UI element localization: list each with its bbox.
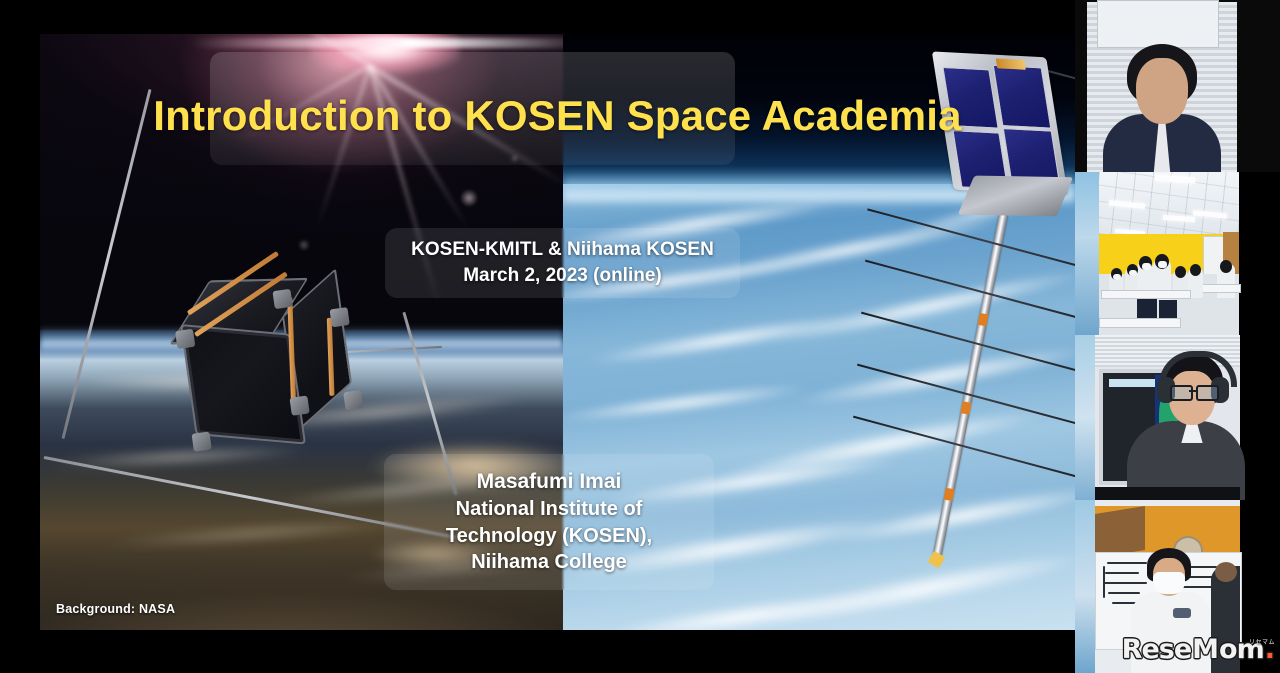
shirt-logo <box>1173 608 1191 618</box>
glasses-bridge <box>1189 390 1196 392</box>
face-mask <box>1142 263 1151 270</box>
whiteboard <box>1097 0 1219 48</box>
person-torso <box>1131 592 1211 673</box>
lens-left <box>1170 385 1193 401</box>
slide-title: Introduction to KOSEN Space Academia <box>95 94 1020 138</box>
whiteboard-writing <box>1108 592 1140 594</box>
slide-subtitle-block: KOSEN-KMITL & Niihama KOSEN March 2, 202… <box>385 228 740 298</box>
cubesat-corner <box>343 390 363 410</box>
face-mask <box>1113 274 1121 280</box>
cubesat-bottom-face <box>958 176 1073 217</box>
boom-band <box>978 313 989 326</box>
cubesat-left-graphic <box>150 234 420 474</box>
cloud-band <box>100 516 400 553</box>
cubesat-corner <box>192 431 212 451</box>
watermark-subtext: リセマム <box>1249 637 1275 646</box>
participant-video-1 <box>1075 0 1280 172</box>
cubesat-body <box>168 276 347 447</box>
eyeglasses-icon <box>1170 385 1216 397</box>
participant-tile-3[interactable] <box>1075 335 1280 500</box>
participant-filmstrip[interactable]: Rese M om . リセマム <box>1075 0 1280 673</box>
cubesat-corner <box>289 395 309 415</box>
author-affiliation-line-3: Niihama College <box>471 549 627 576</box>
shared-screen-stage[interactable]: Background: NASA <box>0 0 1075 673</box>
student-head <box>1175 266 1186 278</box>
lens-ghost-dot <box>460 189 478 207</box>
cubesat-corner <box>330 307 350 327</box>
lens-flare-streak <box>190 38 563 48</box>
lens-right <box>1196 385 1219 401</box>
background-bleed-sky <box>1075 335 1095 500</box>
boom-band <box>960 401 971 414</box>
author-affiliation-line-2: Technology (KOSEN), <box>446 523 652 550</box>
student-head <box>1220 260 1232 273</box>
face-mask <box>1129 270 1137 276</box>
participant-video-4 <box>1075 500 1280 673</box>
whiteboard-writing <box>1107 562 1147 564</box>
subtitle-line-1: KOSEN-KMITL & Niihama KOSEN <box>411 238 714 262</box>
slide-author-block: Masafumi Imai National Institute of Tech… <box>384 454 714 590</box>
cubesat-corner <box>175 329 195 349</box>
cubesat-gold-foil <box>996 58 1026 69</box>
author-affiliation-line-1: National Institute of <box>456 496 643 523</box>
background-bleed-sky <box>1075 172 1099 335</box>
participant-tile-4[interactable] <box>1075 500 1280 673</box>
face-mask <box>1158 261 1167 268</box>
participant-video-2 <box>1075 172 1280 335</box>
second-person-head <box>1215 562 1237 582</box>
second-person-silhouette <box>1211 566 1240 673</box>
cubesat-corner <box>272 289 292 309</box>
background-credit-left: Background: NASA <box>56 602 175 616</box>
presentation-slide: Background: NASA <box>40 34 1075 630</box>
yagi-antenna-boom <box>932 193 1012 563</box>
person-face <box>1136 58 1188 124</box>
wood-panel <box>1095 506 1145 558</box>
participant-video-3 <box>1075 335 1280 500</box>
subtitle-line-2: March 2, 2023 (online) <box>463 264 662 288</box>
author-name: Masafumi Imai <box>477 468 622 496</box>
student-head <box>1190 264 1201 276</box>
whiteboard-writing <box>1105 572 1139 574</box>
desk <box>1101 290 1191 299</box>
desk <box>1099 318 1181 328</box>
face-mask <box>1153 572 1185 594</box>
desk-foreground <box>1095 487 1240 500</box>
cubesat-solar-panel <box>180 324 306 445</box>
background-bleed-sky <box>1075 500 1095 673</box>
participant-tile-1[interactable] <box>1075 0 1280 172</box>
boom-band <box>944 488 955 501</box>
meeting-window: Background: NASA <box>0 0 1280 673</box>
participant-tile-2[interactable] <box>1075 172 1280 335</box>
whiteboard-writing <box>1103 582 1147 584</box>
